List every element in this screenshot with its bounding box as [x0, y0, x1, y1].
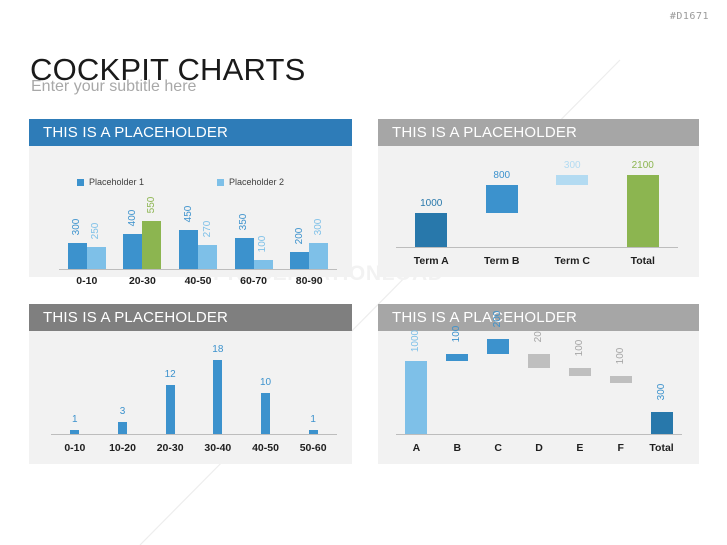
- bar: [166, 385, 175, 434]
- bar-value-label: 10: [241, 377, 291, 388]
- bar: [569, 368, 591, 375]
- bar-value-label: 270: [202, 214, 214, 244]
- bar-value-label: 1: [50, 414, 100, 425]
- bar: [142, 221, 161, 269]
- bar-value-label: 1: [288, 414, 338, 425]
- bar: [123, 234, 142, 269]
- panel-bottom-right-title: THIS IS A PLACEHOLDER: [392, 309, 577, 326]
- panel-bottom-right-body: 1000A100B200C200D100E100F300Total: [378, 331, 699, 464]
- bar: [487, 339, 509, 354]
- bar-value-label: 100: [574, 332, 586, 364]
- bar: [415, 213, 447, 247]
- waterfall-letters-chart: 1000A100B200C200D100E100F300Total: [378, 331, 699, 464]
- bar: [309, 430, 318, 434]
- bar: [198, 245, 217, 269]
- category-label: 0-10: [57, 275, 117, 287]
- panel-top-right-body: 1000Term A800Term B300Term C2100Total: [378, 146, 699, 277]
- waterfall-terms-chart: 1000Term A800Term B300Term C2100Total: [378, 146, 699, 277]
- bar-value-label: 300: [542, 160, 602, 171]
- panel-bottom-left: THIS IS A PLACEHOLDER 10-10310-201220-30…: [29, 304, 352, 464]
- bar-value-label: 200: [492, 303, 504, 335]
- panel-bottom-left-body: 10-10310-201220-301830-401040-50150-60: [29, 331, 352, 464]
- bar-value-label: 300: [313, 212, 325, 242]
- panel-top-right-title: THIS IS A PLACEHOLDER: [392, 124, 577, 141]
- chart-axis: [51, 434, 337, 435]
- bar-value-label: 12: [145, 369, 195, 380]
- bar-value-label: 18: [193, 344, 243, 355]
- bar-value-label: 800: [472, 170, 532, 181]
- panel-top-left-header: THIS IS A PLACEHOLDER: [29, 119, 352, 146]
- panel-top-left-title: THIS IS A PLACEHOLDER: [43, 124, 228, 141]
- bar: [118, 422, 127, 434]
- bar: [254, 260, 273, 269]
- bar-value-label: 200: [294, 221, 306, 251]
- panel-top-left: THIS IS A PLACEHOLDER Placeholder 1 Plac…: [29, 119, 352, 277]
- bar-value-label: 1000: [410, 325, 422, 357]
- bar: [213, 360, 222, 434]
- bar: [405, 361, 427, 434]
- bar-value-label: 450: [183, 199, 195, 229]
- category-label: 80-90: [279, 275, 339, 287]
- bar: [70, 430, 79, 434]
- chart-axis: [396, 434, 682, 435]
- bar-value-label: 250: [90, 216, 102, 246]
- category-label: Term C: [537, 255, 607, 267]
- bar: [556, 175, 588, 185]
- bar: [651, 412, 673, 434]
- category-label: Term A: [396, 255, 466, 267]
- panel-bottom-left-title: THIS IS A PLACEHOLDER: [43, 309, 228, 326]
- bar-value-label: 3: [98, 406, 148, 417]
- panel-top-right: THIS IS A PLACEHOLDER 1000Term A800Term …: [378, 119, 699, 277]
- bar-value-label: 100: [257, 229, 269, 259]
- bar: [235, 238, 254, 269]
- slide: #D1671 COCKPIT CHARTS Enter your subtitl…: [0, 0, 727, 545]
- bar: [68, 243, 87, 269]
- bar-value-label: 100: [615, 340, 627, 372]
- bar: [486, 185, 518, 212]
- bar: [261, 393, 270, 434]
- chart-axis: [396, 247, 678, 248]
- page-subtitle: Enter your subtitle here: [31, 78, 196, 96]
- bar-value-label: 350: [238, 207, 250, 237]
- bar-value-label: 300: [71, 212, 83, 242]
- category-label: Total: [608, 255, 678, 267]
- bar-value-label: 200: [533, 318, 545, 350]
- bar-value-label: 100: [451, 318, 463, 350]
- category-label: 60-70: [224, 275, 284, 287]
- category-label: 20-30: [112, 275, 172, 287]
- bar: [179, 230, 198, 269]
- category-label: Total: [637, 442, 687, 454]
- chart-axis: [59, 269, 337, 270]
- bar-value-label: 400: [127, 203, 139, 233]
- bar-value-label: 550: [146, 190, 158, 220]
- panel-top-left-body: Placeholder 1 Placeholder 2 3002500-1040…: [29, 146, 352, 277]
- bar-value-label: 1000: [401, 198, 461, 209]
- category-label: Term B: [467, 255, 537, 267]
- category-label: 40-50: [168, 275, 228, 287]
- bar: [87, 247, 106, 269]
- bar: [446, 354, 468, 361]
- panel-top-right-header: THIS IS A PLACEHOLDER: [378, 119, 699, 146]
- bar-value-label: 2100: [613, 160, 673, 171]
- bar: [290, 252, 309, 269]
- clustered-bar-chart: 3002500-1040055020-3045027040-5035010060…: [29, 146, 352, 277]
- bar: [627, 175, 659, 247]
- panel-bottom-right: THIS IS A PLACEHOLDER 1000A100B200C200D1…: [378, 304, 699, 464]
- bar: [610, 376, 632, 383]
- category-label: 50-60: [283, 442, 343, 454]
- bar: [309, 243, 328, 269]
- document-code: #D1671: [670, 11, 709, 22]
- histogram-chart: 10-10310-201220-301830-401040-50150-60: [29, 331, 352, 464]
- bar-value-label: 300: [656, 376, 668, 408]
- bar: [528, 354, 550, 369]
- panel-bottom-left-header: THIS IS A PLACEHOLDER: [29, 304, 352, 331]
